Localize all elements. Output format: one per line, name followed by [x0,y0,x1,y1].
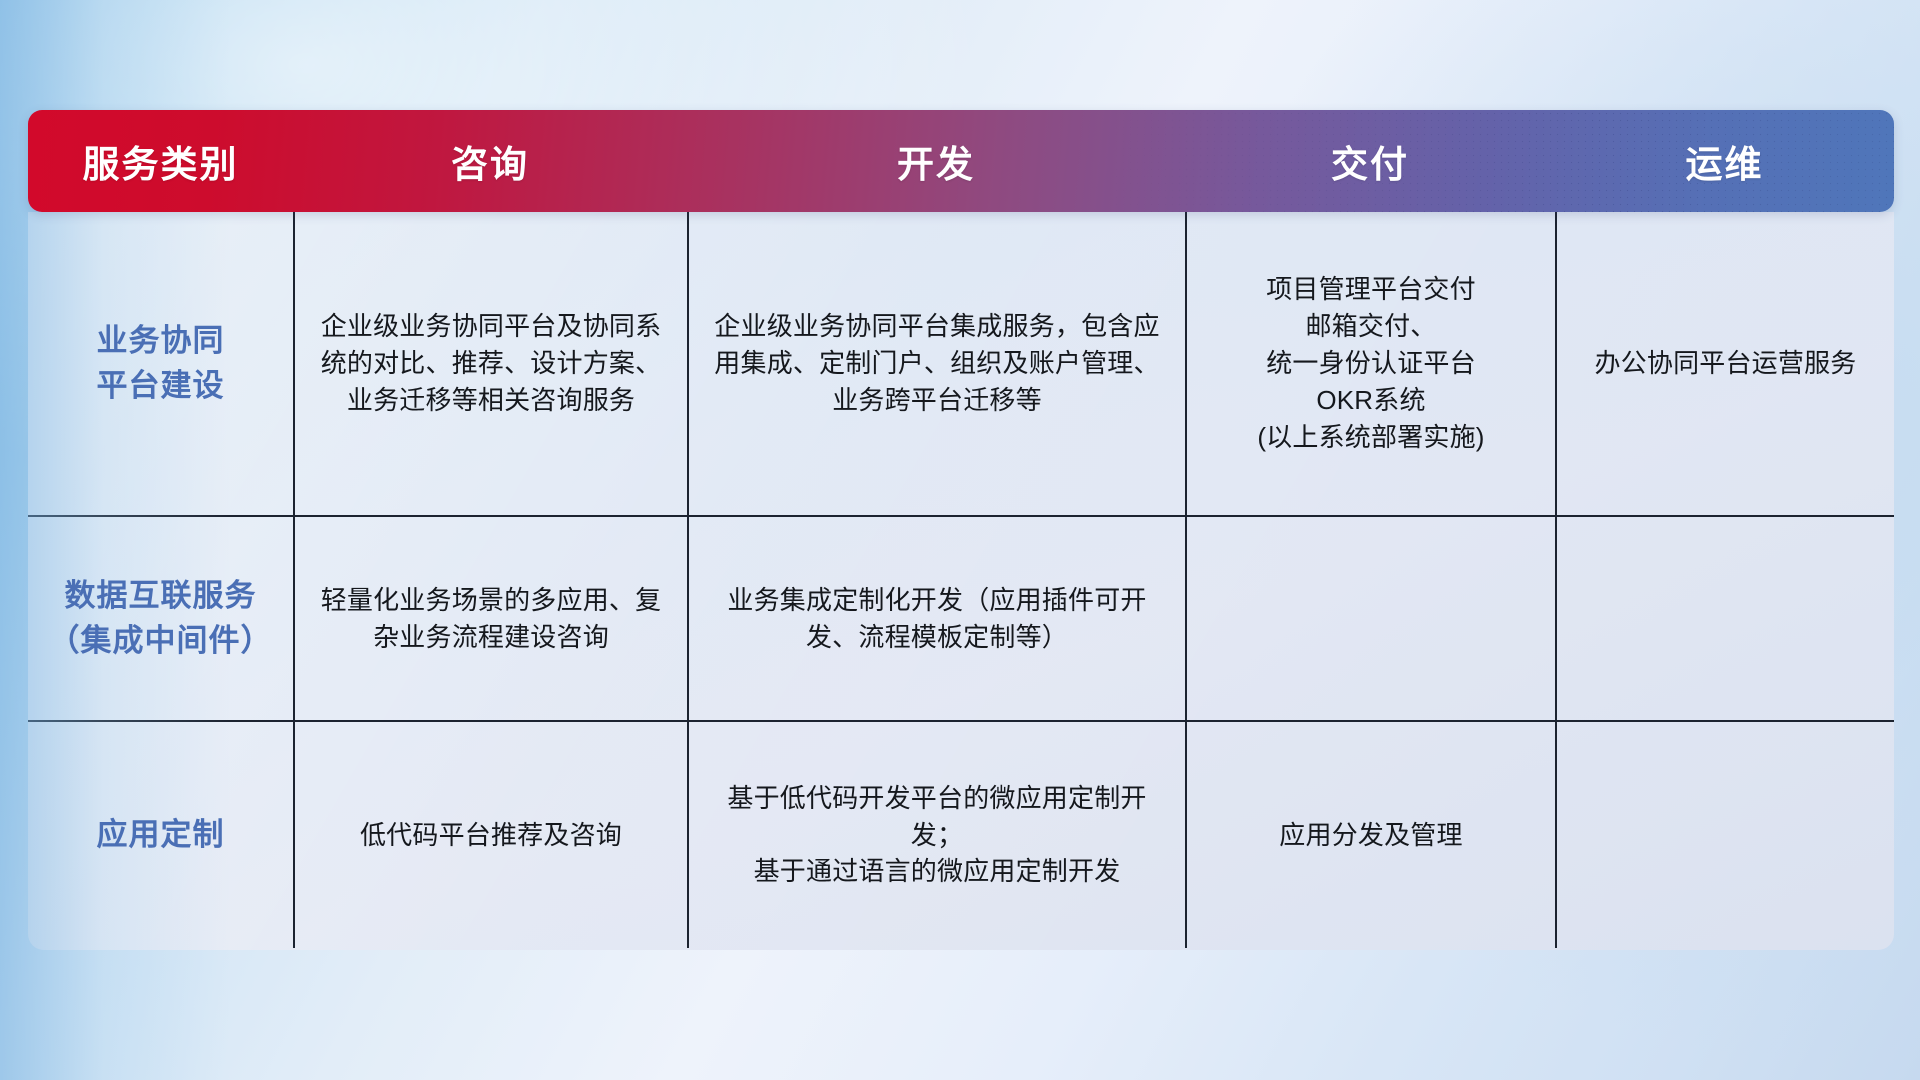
table-header-cell-consulting: 咨询 [293,110,687,212]
cell-development: 业务集成定制化开发（应用插件可开发、流程模板定制等） [687,517,1185,720]
cell-development: 企业级业务协同平台集成服务，包含应用集成、定制门户、组织及账户管理、业务跨平台迁… [687,212,1185,515]
cell-consulting: 企业级业务协同平台及协同系统的对比、推荐、设计方案、业务迁移等相关咨询服务 [293,212,687,515]
table-row: 业务协同 平台建设 企业级业务协同平台及协同系统的对比、推荐、设计方案、业务迁移… [28,212,1894,515]
table-header-cell-delivery: 交付 [1185,110,1555,212]
row-category-line: 应用定制 [97,813,225,857]
cell-text: 项目管理平台交付 邮箱交付、 统一身份认证平台 OKR系统 (以上系统部署实施) [1257,271,1484,456]
row-category-label: 应用定制 [28,722,293,948]
cell-development: 基于低代码开发平台的微应用定制开发； 基于通过语言的微应用定制开发 [687,722,1185,948]
table-header-cell-service-category: 服务类别 [28,110,293,212]
table-header-cell-development: 开发 [687,110,1185,212]
cell-text: 轻量化业务场景的多应用、复杂业务流程建设咨询 [309,582,673,656]
cell-text: 企业级业务协同平台集成服务，包含应用集成、定制门户、组织及账户管理、业务跨平台迁… [703,308,1171,419]
table-body: 业务协同 平台建设 企业级业务协同平台及协同系统的对比、推荐、设计方案、业务迁移… [28,212,1894,950]
cell-operations [1555,517,1894,720]
cell-text: 办公协同平台运营服务 [1594,345,1856,382]
cell-delivery [1185,517,1555,720]
row-category-label: 业务协同 平台建设 [28,212,293,515]
service-matrix-table: 服务类别 咨询 开发 交付 运维 业务协同 平台建设 企业级业务协同平台及协同系… [28,110,1894,950]
cell-operations: 办公协同平台运营服务 [1555,212,1894,515]
table-row: 数据互联服务 （集成中间件） 轻量化业务场景的多应用、复杂业务流程建设咨询 业务… [28,515,1894,720]
cell-text: 基于低代码开发平台的微应用定制开发； 基于通过语言的微应用定制开发 [703,780,1171,891]
table-header-row: 服务类别 咨询 开发 交付 运维 [28,110,1894,212]
cell-consulting: 轻量化业务场景的多应用、复杂业务流程建设咨询 [293,517,687,720]
cell-delivery: 应用分发及管理 [1185,722,1555,948]
row-category-line: （集成中间件） [49,619,273,663]
slide-background: 服务类别 咨询 开发 交付 运维 业务协同 平台建设 企业级业务协同平台及协同系… [0,0,1920,1080]
cell-consulting: 低代码平台推荐及咨询 [293,722,687,948]
table-row: 应用定制 低代码平台推荐及咨询 基于低代码开发平台的微应用定制开发； 基于通过语… [28,720,1894,948]
cell-delivery: 项目管理平台交付 邮箱交付、 统一身份认证平台 OKR系统 (以上系统部署实施) [1185,212,1555,515]
row-category-line: 数据互联服务 [49,574,273,618]
cell-text: 业务集成定制化开发（应用插件可开发、流程模板定制等） [703,582,1171,656]
cell-text: 应用分发及管理 [1279,817,1462,854]
row-category-line: 平台建设 [97,364,225,408]
cell-operations [1555,722,1894,948]
cell-text: 低代码平台推荐及咨询 [360,817,622,854]
row-category-label: 数据互联服务 （集成中间件） [28,517,293,720]
table-header-cell-operations: 运维 [1555,110,1894,212]
cell-text: 企业级业务协同平台及协同系统的对比、推荐、设计方案、业务迁移等相关咨询服务 [309,308,673,419]
row-category-line: 业务协同 [97,319,225,363]
